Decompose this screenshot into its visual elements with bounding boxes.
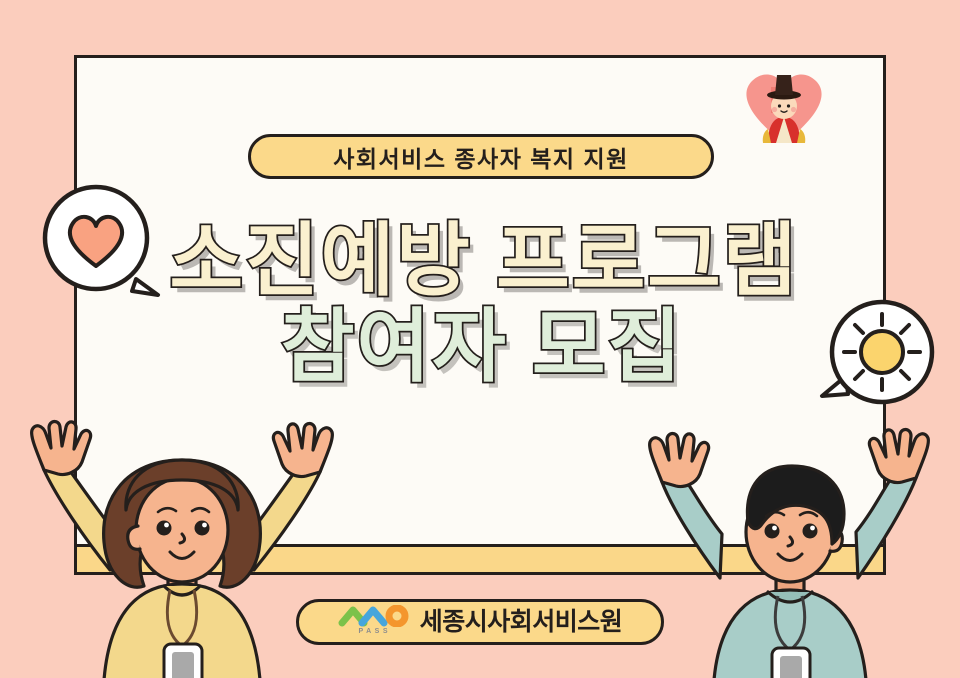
footer-org-badge: PASS 세종시사회서비스원 xyxy=(296,599,664,645)
sun-speech-bubble xyxy=(816,298,942,415)
poster-canvas: 사회서비스 종사자 복지 지원 소진예방 프로그램 참여자 모집 xyxy=(0,0,960,678)
pass-logo-wordmark: PASS xyxy=(338,628,412,635)
pass-logo-icon: PASS xyxy=(338,605,412,639)
subtitle-badge-label: 사회서비스 종사자 복지 지원 xyxy=(333,140,629,174)
organization-name: 세종시사회서비스원 xyxy=(420,602,623,638)
heart-speech-bubble xyxy=(40,183,170,306)
korean-mascot-icon xyxy=(738,57,830,154)
subtitle-badge: 사회서비스 종사자 복지 지원 xyxy=(248,134,714,179)
